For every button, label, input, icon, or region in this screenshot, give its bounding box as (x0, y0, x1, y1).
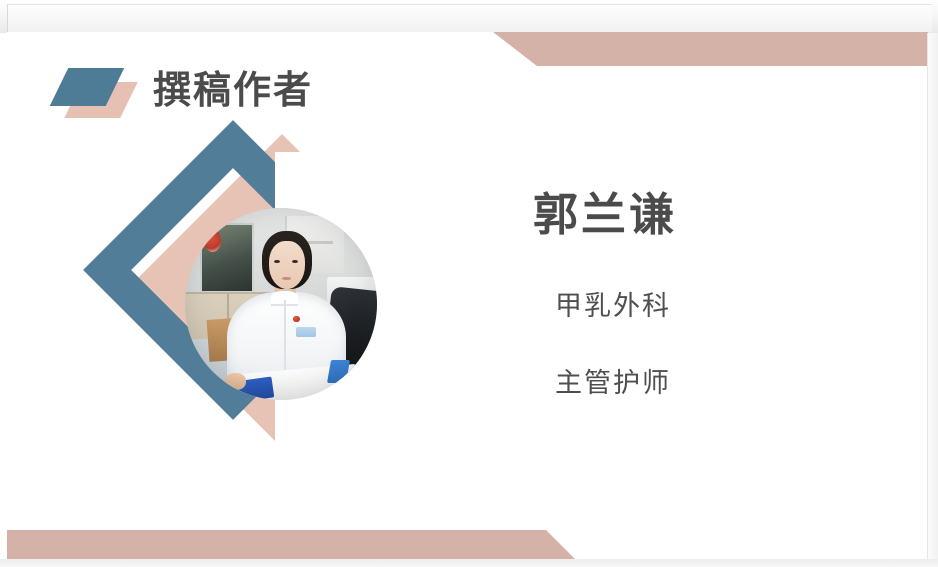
slide-root: 撰稿作者 (0, 0, 938, 567)
parallelogram-mark-icon (53, 60, 135, 122)
window-right-chrome (927, 33, 938, 559)
author-info-block: 郭兰谦 甲乳外科 主管护师 (533, 192, 873, 397)
portrait-photo-icon (185, 208, 377, 400)
portrait-cluster (123, 152, 493, 502)
author-department: 甲乳外科 (555, 293, 873, 320)
window-bottom-chrome (0, 559, 938, 567)
window-top-chrome-inner (7, 4, 932, 32)
slide-title-row: 撰稿作者 (53, 60, 313, 122)
slide-canvas: 撰稿作者 (7, 32, 928, 560)
author-name: 郭兰谦 (533, 192, 873, 237)
window-top-chrome (0, 0, 938, 33)
author-rank: 主管护师 (555, 370, 873, 397)
corner-wedge-bottomleft-icon (7, 530, 928, 560)
page-title: 撰稿作者 (153, 72, 313, 110)
photo-vignette (185, 208, 377, 400)
